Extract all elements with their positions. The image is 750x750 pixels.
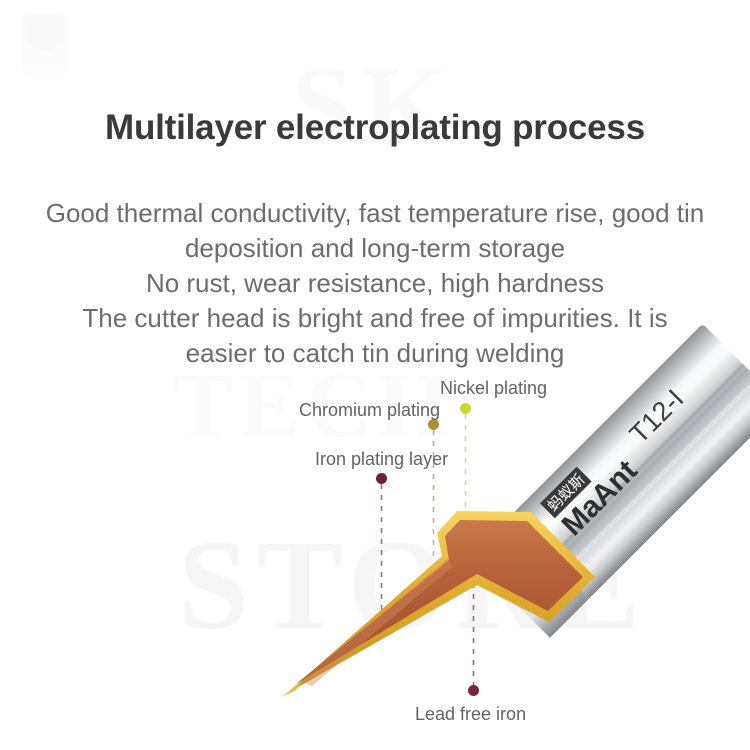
callout-label-chromium: Chromium plating bbox=[299, 400, 440, 421]
description-block: Good thermal conductivity, fast temperat… bbox=[16, 196, 734, 371]
description-line: Good thermal conductivity, fast temperat… bbox=[16, 196, 734, 231]
callout-dot-iron bbox=[376, 473, 387, 484]
callout-dot-nickel bbox=[460, 403, 471, 414]
callout-dot-lead bbox=[468, 685, 479, 696]
description-line: deposition and long-term storage bbox=[16, 231, 734, 266]
tip-copper-core bbox=[296, 520, 583, 684]
product-infographic: SK TECH STORE Multilayer electroplating … bbox=[0, 0, 750, 750]
model-text: T12-I bbox=[624, 383, 690, 449]
description-line: The cutter head is bright and free of im… bbox=[16, 301, 734, 336]
tip-point bbox=[282, 680, 303, 697]
brand-cn-block bbox=[540, 467, 592, 519]
callout-label-lead: Lead free iron bbox=[415, 704, 526, 725]
tip-highlight bbox=[300, 558, 452, 686]
barrel-markings: 蚂蚁斯 MaAnt T12-I bbox=[540, 379, 703, 542]
description-line: easier to catch tin during welding bbox=[16, 336, 734, 371]
description-line: No rust, wear resistance, high hardness bbox=[16, 266, 734, 301]
watermark-logo-icon bbox=[22, 14, 68, 76]
watermark-top: SK bbox=[292, 42, 455, 171]
callout-label-nickel: Nickel plating bbox=[440, 378, 547, 399]
tip-gold-plating bbox=[286, 511, 595, 694]
watermark-bottom: STORE bbox=[178, 512, 648, 659]
page-title: Multilayer electroplating process bbox=[0, 108, 750, 148]
brand-text: MaAnt bbox=[556, 454, 644, 542]
brand-cn-text: 蚂蚁斯 bbox=[545, 471, 589, 515]
callout-label-iron: Iron plating layer bbox=[315, 449, 448, 470]
